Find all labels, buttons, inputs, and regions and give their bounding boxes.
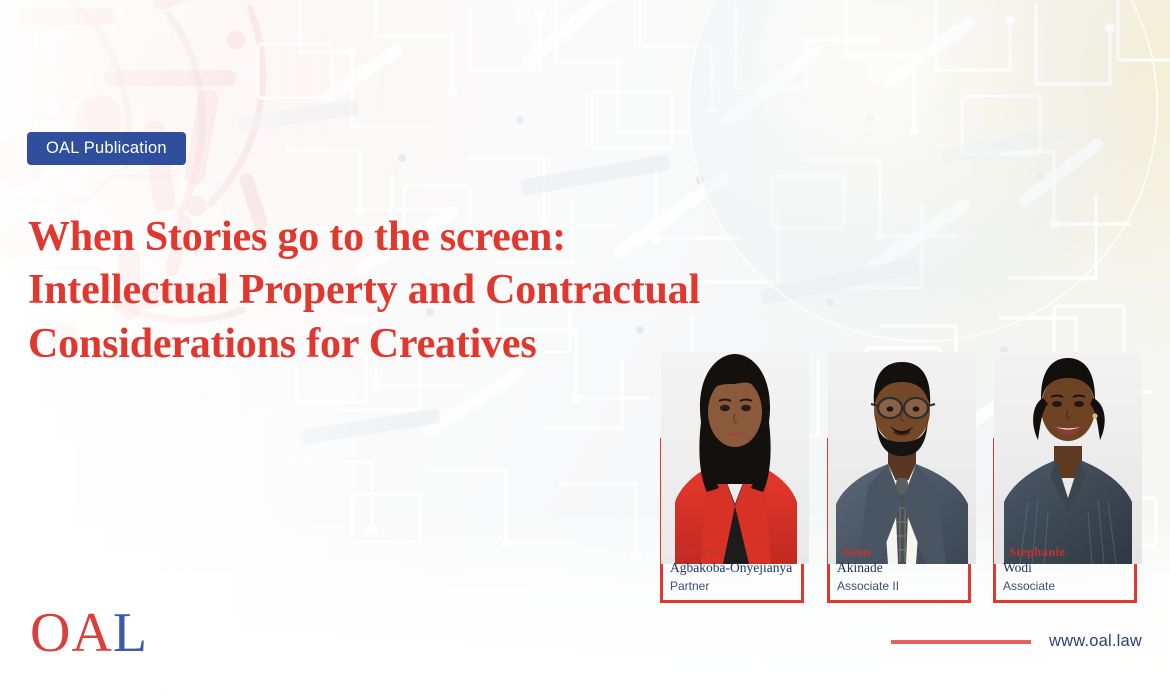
publication-badge: OAL Publication <box>27 132 186 165</box>
contributor-role: Associate <box>1003 577 1143 595</box>
website-url[interactable]: www.oal.law <box>1049 632 1142 651</box>
contributor-first-name: Stephanie <box>1003 545 1143 560</box>
page-title-line-2: Intellectual Property and Contractual <box>28 264 928 317</box>
contributor-last-name: Akinade <box>837 560 977 576</box>
logo-text-primary: OA <box>30 602 113 664</box>
page-title-line-1: When Stories go to the screen: <box>28 211 928 264</box>
contributor-card: Beverley Agbakoba-Onyejianya Partner <box>660 438 804 603</box>
avatar <box>661 352 809 564</box>
contributor-last-name: Agbakoba-Onyejianya <box>670 560 810 576</box>
avatar <box>828 352 976 564</box>
contributor-role: Partner <box>670 577 810 595</box>
divider-rule <box>891 640 1031 644</box>
avatar <box>994 352 1142 564</box>
contributor-caption: Stephanie Wodi Associate <box>1003 545 1143 595</box>
website-url-group: www.oal.law <box>891 632 1142 651</box>
contributor-cards: Beverley Agbakoba-Onyejianya Partner <box>660 355 1142 603</box>
contributor-caption: Seun Akinade Associate II <box>837 545 977 595</box>
publication-banner: OAL Publication When Stories go to the s… <box>0 0 1170 694</box>
page-title: When Stories go to the screen: Intellect… <box>28 211 928 371</box>
contributor-first-name: Beverley <box>670 545 810 560</box>
contributor-card: Seun Akinade Associate II <box>827 438 971 603</box>
publication-badge-label: OAL Publication <box>46 139 167 158</box>
oal-logo: OAL <box>30 605 148 661</box>
logo-text-secondary: L <box>113 602 148 664</box>
contributor-last-name: Wodi <box>1003 560 1143 576</box>
contributor-role: Associate II <box>837 577 977 595</box>
contributor-card: Stephanie Wodi Associate <box>993 438 1137 603</box>
contributor-caption: Beverley Agbakoba-Onyejianya Partner <box>670 545 810 595</box>
contributor-first-name: Seun <box>837 545 977 560</box>
